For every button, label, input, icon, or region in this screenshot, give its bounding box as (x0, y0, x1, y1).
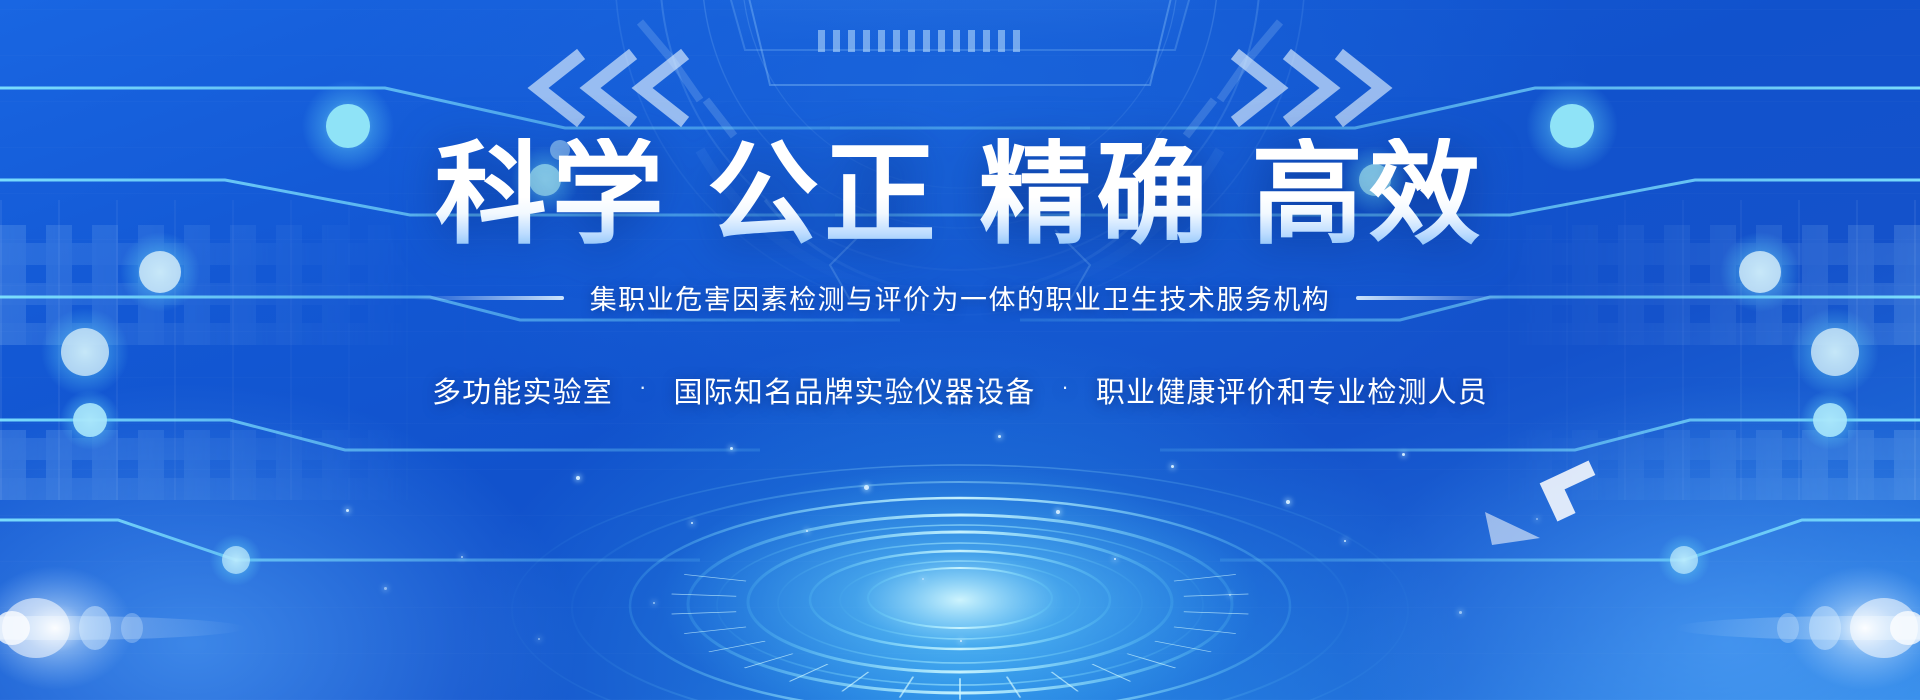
banner-subtitle-row: 集职业危害因素检测与评价为一体的职业卫生技术服务机构 (414, 278, 1507, 317)
subtitle-rule-left (414, 296, 564, 300)
banner-content: 科学公正精确高效 集职业危害因素检测与评价为一体的职业卫生技术服务机构 多功能实… (0, 0, 1920, 700)
tagline-1: 多功能实验室 (432, 369, 613, 411)
banner-taglines: 多功能实验室 · 国际知名品牌实验仪器设备 · 职业健康评价和专业检测人员 (432, 369, 1488, 411)
tagline-3: 职业健康评价和专业检测人员 (1096, 369, 1488, 411)
tagline-2: 国际知名品牌实验仪器设备 (673, 369, 1035, 411)
banner-title: 科学公正精确高效 (435, 138, 1486, 252)
banner-subtitle: 集职业危害因素检测与评价为一体的职业卫生技术服务机构 (590, 278, 1331, 317)
tagline-separator-1: · (639, 374, 648, 400)
subtitle-rule-right (1356, 296, 1506, 300)
tagline-separator-2: · (1061, 374, 1070, 400)
title-word-3: 精确 (979, 132, 1213, 257)
title-word-1: 科学 (435, 132, 669, 257)
banner-root: 科学公正精确高效 集职业危害因素检测与评价为一体的职业卫生技术服务机构 多功能实… (0, 0, 1920, 700)
title-word-4: 高效 (1251, 132, 1485, 257)
title-word-2: 公正 (707, 132, 941, 257)
